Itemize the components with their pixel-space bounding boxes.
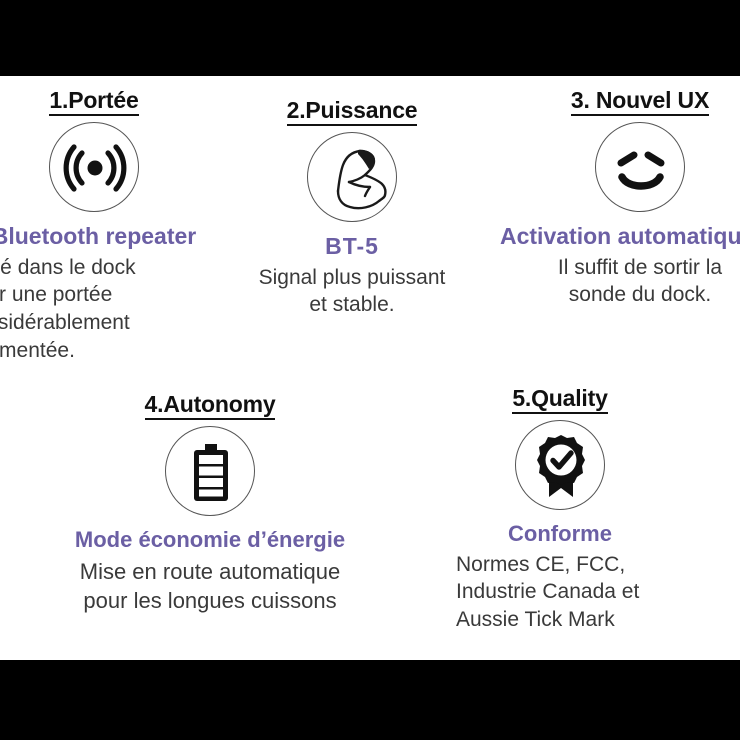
card-heading: 3. Nouvel UX <box>571 88 709 116</box>
card-subtitle: BT-5 <box>232 233 472 259</box>
card-heading: 4.Autonomy <box>145 392 276 420</box>
card-icon-wrap <box>496 122 740 217</box>
card-body-line: Industrie Canada et <box>456 578 680 606</box>
card-heading-wrap: 1.Portée <box>0 88 224 116</box>
card-heading-wrap: 2.Puissance <box>232 98 472 126</box>
card-body-line: Signal plus puissant <box>232 264 472 292</box>
card-icon-wrap <box>60 426 360 521</box>
feature-card-puissance: 2.Puissance <box>232 98 472 319</box>
card-heading: 1.Portée <box>49 88 138 116</box>
signal-waves-icon <box>49 122 139 212</box>
card-body: Mise en route automatique pour les longu… <box>60 557 360 615</box>
card-icon-wrap <box>0 122 224 217</box>
feature-card-portee: 1.Portée Bluetooth repeater Situé dans l… <box>0 88 224 365</box>
video-letterbox-frame: 1.Portée Bluetooth repeater Situé dans l… <box>0 0 740 740</box>
card-subtitle: Mode économie d’énergie <box>60 527 360 552</box>
card-heading-wrap: 5.Quality <box>440 386 680 414</box>
card-heading-wrap: 4.Autonomy <box>60 392 360 420</box>
card-body-line: pour une portée <box>0 281 224 309</box>
card-body-line: Normes CE, FCC, <box>456 551 680 579</box>
card-body: Il suffit de sortir la sonde du dock. <box>496 254 740 309</box>
card-subtitle: Conforme <box>440 521 680 546</box>
feature-card-quality: 5.Quality Conforme Normes CE, FCC, Indus… <box>440 386 680 634</box>
card-body: Signal plus puissant et stable. <box>232 264 472 319</box>
award-badge-check-icon <box>515 420 605 510</box>
card-body-line: Situé dans le dock <box>0 254 224 282</box>
card-icon-wrap <box>232 132 472 227</box>
card-body-line: sonde du dock. <box>496 281 740 309</box>
card-body-line: considérablement <box>0 309 224 337</box>
card-heading-wrap: 3. Nouvel UX <box>496 88 740 116</box>
card-body-line: Aussie Tick Mark <box>456 606 680 634</box>
battery-full-icon <box>165 426 255 516</box>
card-subtitle: Activation automatique <box>496 223 740 249</box>
card-body-line: pour les longues cuissons <box>60 586 360 615</box>
card-heading: 2.Puissance <box>287 98 418 126</box>
flexed-bicep-icon <box>307 132 397 222</box>
card-heading: 5.Quality <box>512 386 607 414</box>
presentation-slide: 1.Portée Bluetooth repeater Situé dans l… <box>0 76 740 660</box>
feature-card-autonomy: 4.Autonomy Mode économie d’énergie Mise <box>60 392 360 615</box>
card-body-line: Il suffit de sortir la <box>496 254 740 282</box>
card-body-line: augmentée. <box>0 337 224 365</box>
card-body: Situé dans le dock pour une portée consi… <box>0 254 224 365</box>
card-icon-wrap <box>440 420 680 515</box>
card-subtitle: Bluetooth repeater <box>0 223 224 249</box>
card-body: Normes CE, FCC, Industrie Canada et Auss… <box>440 551 680 634</box>
smiley-face-icon <box>595 122 685 212</box>
feature-card-nouvel-ux: 3. Nouvel UX Activation automatique Il s… <box>496 88 740 309</box>
card-body-line: Mise en route automatique <box>60 557 360 586</box>
card-body-line: et stable. <box>232 291 472 319</box>
